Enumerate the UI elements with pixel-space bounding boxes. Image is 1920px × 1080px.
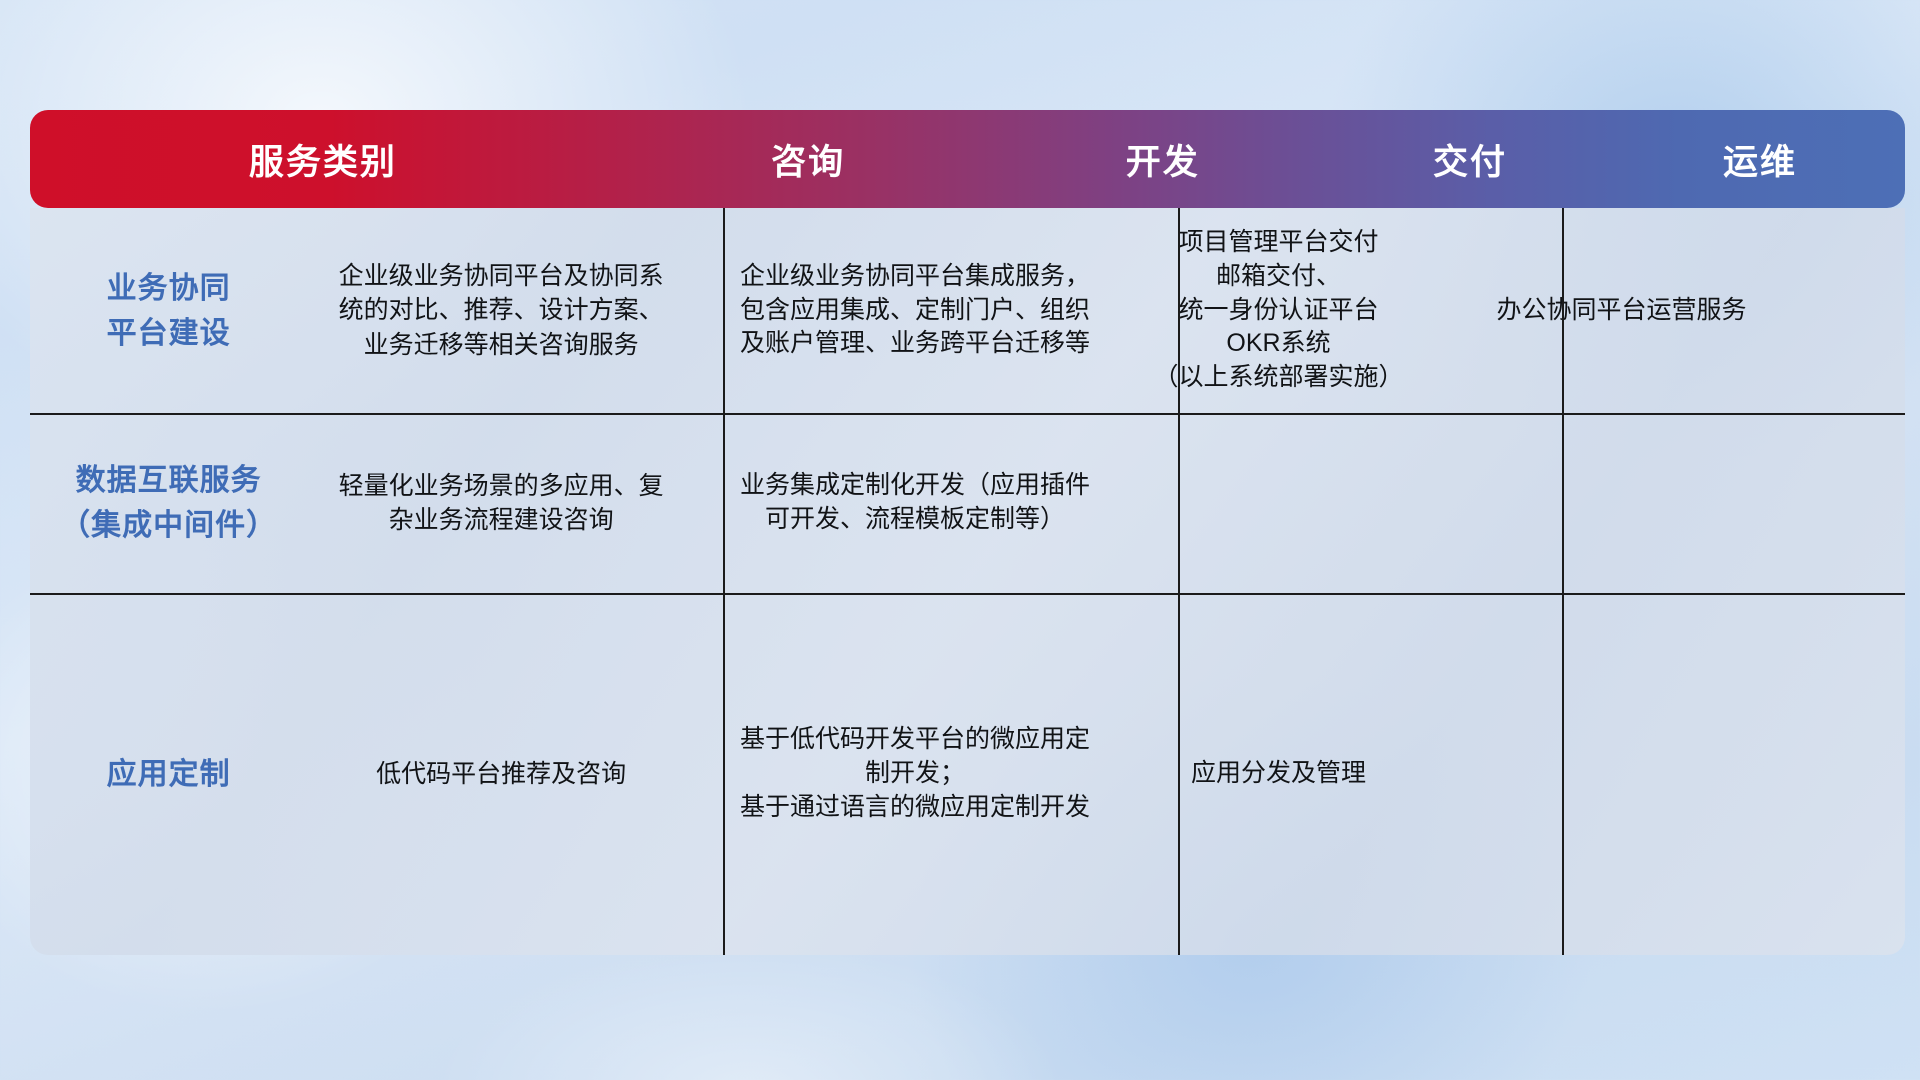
row-2-cell-category: 数据互联服务 （集成中间件） 轻量化业务场景的多应用、复 杂业务流程建设咨询: [30, 413, 723, 593]
row-3-cell-development: 基于低代码开发平台的微应用定 制开发； 基于通过语言的微应用定制开发: [723, 593, 1107, 955]
row-2-category-wrap: 数据互联服务 （集成中间件）: [44, 458, 293, 548]
table-row: 应用定制 低代码平台推荐及咨询 基于低代码开发平台的微应用定 制开发； 基于通过…: [30, 593, 1905, 955]
row-2-consulting-text: 轻量化业务场景的多应用、复 杂业务流程建设咨询: [339, 469, 664, 538]
row-1-operations-text: 办公协同平台运营服务: [1496, 294, 1746, 328]
row-3-consulting-text: 低代码平台推荐及咨询: [376, 757, 626, 792]
column-divider-consulting-development: [723, 208, 725, 955]
row-2-consulting-wrap: 轻量化业务场景的多应用、复 杂业务流程建设咨询: [293, 465, 709, 542]
row-1-category-label: 业务协同 平台建设: [107, 266, 231, 356]
table-row: 业务协同 平台建设 企业级业务协同平台及协同系 统的对比、推荐、设计方案、 业务…: [30, 208, 1905, 413]
column-header-delivery: 交付: [1325, 110, 1615, 208]
table-body-grid: 业务协同 平台建设 企业级业务协同平台及协同系 统的对比、推荐、设计方案、 业务…: [30, 208, 1905, 955]
column-divider-delivery-operations: [1562, 208, 1564, 955]
column-header-development: 开发: [1000, 110, 1325, 208]
row-3-category-label: 应用定制: [107, 752, 231, 797]
row-3-delivery-text: 应用分发及管理: [1191, 757, 1366, 791]
column-header-operations: 运维: [1615, 110, 1905, 208]
row-2-cell-delivery: [1107, 413, 1450, 593]
row-1-development-text: 企业级业务协同平台集成服务， 包含应用集成、定制门户、组织 及账户管理、业务跨平…: [740, 260, 1090, 361]
row-1-delivery-text: 项目管理平台交付 邮箱交付、 统一身份认证平台 OKR系统 （以上系统部署实施）: [1153, 226, 1403, 395]
row-1-cell-development: 企业级业务协同平台集成服务， 包含应用集成、定制门户、组织 及账户管理、业务跨平…: [723, 208, 1107, 413]
column-header-category-label: 服务类别: [193, 134, 453, 185]
row-divider-2: [30, 593, 1905, 595]
row-1-cell-delivery: 项目管理平台交付 邮箱交付、 统一身份认证平台 OKR系统 （以上系统部署实施）: [1107, 208, 1450, 413]
column-header-development-label: 开发: [1126, 134, 1200, 185]
row-3-consulting-wrap: 低代码平台推荐及咨询: [293, 753, 709, 796]
table-row: 数据互联服务 （集成中间件） 轻量化业务场景的多应用、复 杂业务流程建设咨询 业…: [30, 413, 1905, 593]
row-3-category-wrap: 应用定制: [44, 752, 293, 797]
row-2-cell-development: 业务集成定制化开发（应用插件 可开发、流程模板定制等）: [723, 413, 1107, 593]
column-divider-development-delivery: [1178, 208, 1180, 955]
row-divider-1: [30, 413, 1905, 415]
row-3-cell-operations: [1450, 593, 1793, 955]
column-header-consulting-label: 咨询: [771, 134, 845, 185]
column-header-category: 服务类别: [30, 110, 616, 208]
row-1-consulting-wrap: 企业级业务协同平台及协同系 统的对比、推荐、设计方案、 业务迁移等相关咨询服务: [293, 255, 709, 367]
service-matrix-table: 服务类别 咨询 开发 交付 运维 业务协同 平台建设 企业级业务协同平台及协同系…: [30, 110, 1905, 955]
row-2-category-label: 数据互联服务 （集成中间件）: [60, 458, 277, 548]
row-2-cell-operations: [1450, 413, 1793, 593]
row-1-category-wrap: 业务协同 平台建设: [44, 266, 293, 356]
column-header-delivery-label: 交付: [1433, 134, 1507, 185]
column-header-operations-label: 运维: [1723, 134, 1797, 185]
row-1-cell-category: 业务协同 平台建设 企业级业务协同平台及协同系 统的对比、推荐、设计方案、 业务…: [30, 208, 723, 413]
column-header-consulting: 咨询: [616, 110, 1001, 208]
table-header-row: 服务类别 咨询 开发 交付 运维: [30, 110, 1905, 208]
row-1-cell-operations: 办公协同平台运营服务: [1450, 208, 1793, 413]
row-3-cell-delivery: 应用分发及管理: [1107, 593, 1450, 955]
row-1-consulting-text: 企业级业务协同平台及协同系 统的对比、推荐、设计方案、 业务迁移等相关咨询服务: [339, 259, 664, 363]
row-2-development-text: 业务集成定制化开发（应用插件 可开发、流程模板定制等）: [740, 469, 1090, 537]
row-3-cell-category: 应用定制 低代码平台推荐及咨询: [30, 593, 723, 955]
row-3-development-text: 基于低代码开发平台的微应用定 制开发； 基于通过语言的微应用定制开发: [740, 723, 1090, 824]
